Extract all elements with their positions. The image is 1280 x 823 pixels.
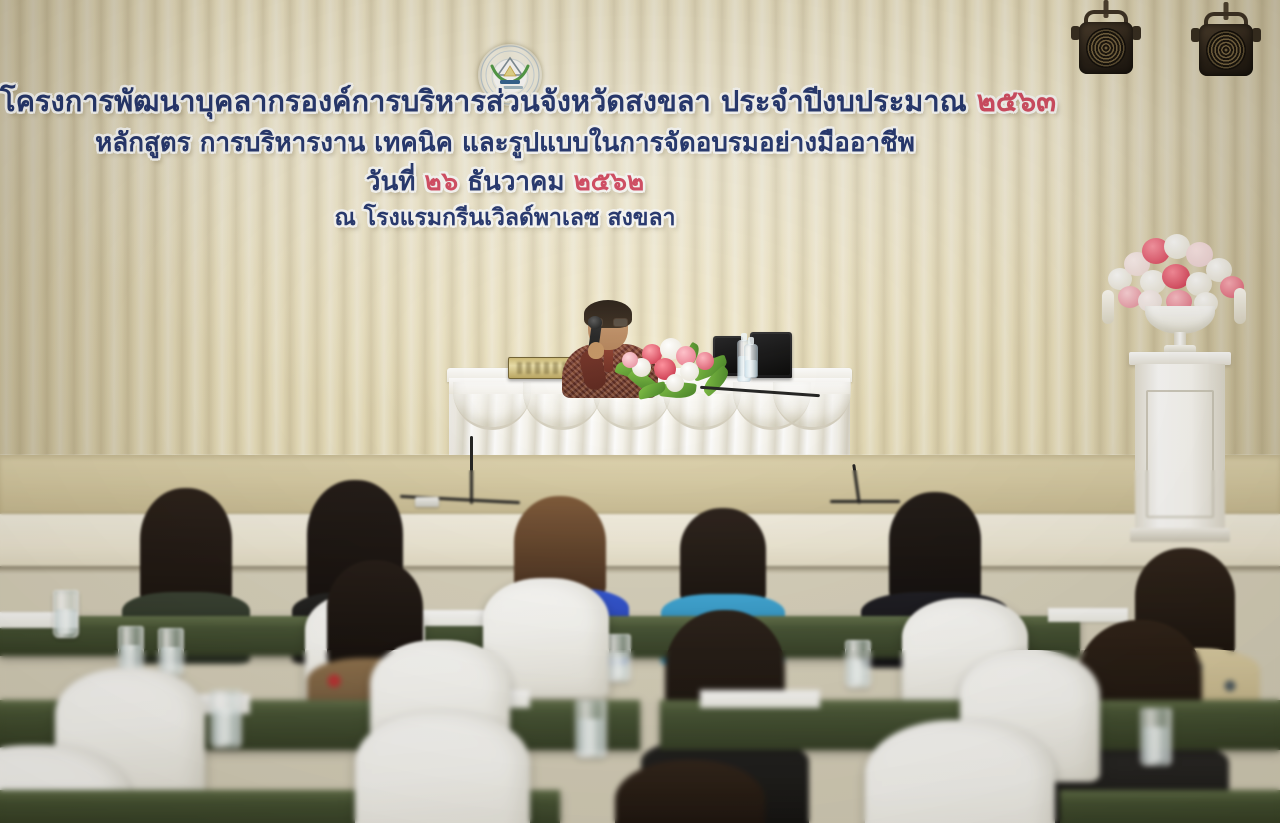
water-glass: [845, 640, 871, 688]
water-glass: [210, 690, 242, 748]
water-bottle-stage-2: [744, 344, 758, 378]
water-glass: [53, 590, 79, 638]
stage-light-left: [1068, 0, 1144, 80]
mic-stand-cable: [470, 436, 473, 504]
water-glass: [575, 700, 607, 758]
paper-sheet: [700, 690, 820, 708]
seminar-photo: โครงการพัฒนาบุคลากรองค์การบริหารส่วนจังห…: [0, 0, 1280, 823]
chair-cover-foreground: [865, 720, 1055, 823]
audience-table-foreground-right: [1060, 790, 1280, 823]
microphone-head-icon: [588, 316, 602, 329]
speaker-hand: [588, 342, 604, 359]
flower-urn: [1145, 306, 1215, 356]
organization-emblem-icon: [478, 44, 542, 106]
table-flower-arrangement: [614, 330, 740, 402]
white-pedestal-column: [1135, 352, 1225, 542]
water-glass: [1140, 708, 1172, 766]
stage-light-right: [1188, 2, 1264, 82]
audience-person-foreground: [590, 760, 790, 823]
chair-cover-foreground: [355, 712, 530, 823]
water-glass: [158, 628, 184, 676]
water-glass: [118, 626, 144, 674]
